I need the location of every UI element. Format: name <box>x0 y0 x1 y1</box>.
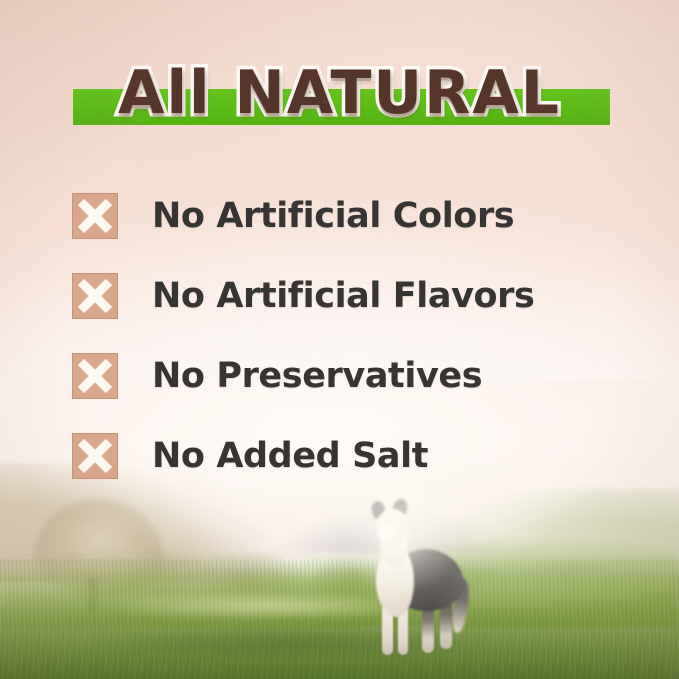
claim-label: No Preservatives <box>152 359 482 394</box>
x-mark-icon <box>72 273 118 319</box>
claim-label: No Artificial Flavors <box>152 279 534 314</box>
headline-title: All NATURAL <box>0 54 679 132</box>
x-mark-icon <box>72 433 118 479</box>
claim-label: No Added Salt <box>152 439 428 474</box>
dog <box>360 501 480 661</box>
claim-label: No Artificial Colors <box>152 199 514 234</box>
all-natural-poster: All NATURAL No Artificial Colors No Arti… <box>0 0 679 679</box>
claim-row: No Artificial Flavors <box>72 256 632 336</box>
claim-row: No Added Salt <box>72 416 632 496</box>
x-mark-icon <box>72 193 118 239</box>
claims-list: No Artificial Colors No Artificial Flavo… <box>72 176 632 496</box>
claim-row: No Preservatives <box>72 336 632 416</box>
dog-muzzle <box>378 525 396 541</box>
claim-row: No Artificial Colors <box>72 176 632 256</box>
x-mark-icon <box>72 353 118 399</box>
headline-banner: All NATURAL <box>0 54 679 138</box>
